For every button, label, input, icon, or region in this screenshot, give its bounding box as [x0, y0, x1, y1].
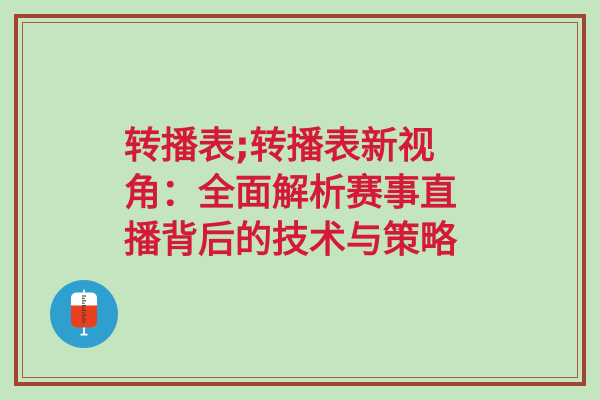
blood-bag-icon	[50, 280, 118, 348]
bag-fluid	[71, 306, 97, 328]
poster-canvas: 转播表;转播表新视角：全面解析赛事直播背后的技术与策略	[0, 0, 600, 400]
page-title: 转播表;转播表新视角：全面解析赛事直播背后的技术与策略	[124, 122, 480, 263]
blood-bag-icon-graphic	[50, 280, 118, 348]
bag-fluid-group	[71, 306, 97, 328]
